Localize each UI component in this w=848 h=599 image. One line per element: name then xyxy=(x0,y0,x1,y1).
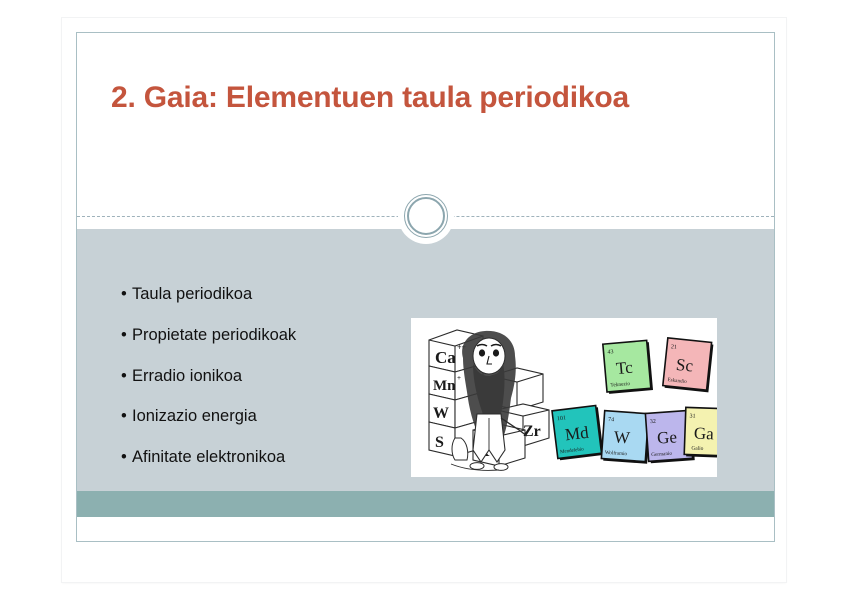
bullet-icon: • xyxy=(121,326,132,346)
svg-text:W: W xyxy=(433,405,449,422)
element-card-w: 74 W Wolframio xyxy=(601,411,650,464)
page-title: 2. Gaia: Elementuen taula periodikoa xyxy=(111,81,751,116)
svg-text:21: 21 xyxy=(671,344,678,351)
element-card-sc: 21 Sc Eskandio xyxy=(663,338,714,393)
svg-text:Sc: Sc xyxy=(675,355,694,376)
document-page: 2. Gaia: Elementuen taula periodikoa • T… xyxy=(0,0,848,599)
element-card-ga: 31 Ga Galio xyxy=(684,407,717,458)
list-item: • Propietate periodikoak xyxy=(121,326,421,346)
svg-text:+: + xyxy=(457,374,461,382)
element-card-md: 101 Md Mendelebio xyxy=(552,405,604,460)
list-item-label: Afinitate elektronikoa xyxy=(132,448,285,468)
svg-text:Tc: Tc xyxy=(615,358,634,378)
slide-image: Ca Mn W S Zr K ++ + xyxy=(411,318,717,477)
svg-text:S: S xyxy=(435,434,444,451)
svg-text:101: 101 xyxy=(557,415,567,422)
bullet-icon: • xyxy=(121,367,132,387)
svg-text:Ca: Ca xyxy=(435,348,456,367)
bullet-icon: • xyxy=(121,285,132,305)
list-item-label: Taula periodikoa xyxy=(132,285,252,305)
svg-text:43: 43 xyxy=(607,349,614,356)
list-item: • Ionizazio energia xyxy=(121,407,421,427)
svg-text:74: 74 xyxy=(608,417,614,423)
slide: 2. Gaia: Elementuen taula periodikoa • T… xyxy=(76,32,775,542)
svg-text:Ga: Ga xyxy=(694,424,715,444)
slide-body-area: • Taula periodikoa • Propietate periodik… xyxy=(77,229,774,517)
list-item-label: Erradio ionikoa xyxy=(132,367,242,387)
list-item: • Erradio ionikoa xyxy=(121,367,421,387)
list-item-label: Ionizazio energia xyxy=(132,407,257,427)
bullet-icon: • xyxy=(121,448,132,468)
list-item: • Afinitate elektronikoa xyxy=(121,448,421,468)
bullet-icon: • xyxy=(121,407,132,427)
svg-text:Mn: Mn xyxy=(433,378,456,394)
svg-text:Md: Md xyxy=(564,423,590,445)
svg-text:Galio: Galio xyxy=(691,446,703,452)
svg-text:32: 32 xyxy=(650,419,656,425)
list-item-label: Propietate periodikoak xyxy=(132,326,296,346)
circle-outer-ring xyxy=(404,194,448,238)
list-item: • Taula periodikoa xyxy=(121,285,421,305)
svg-text:31: 31 xyxy=(689,414,695,420)
svg-text:Zr: Zr xyxy=(523,423,541,440)
svg-text:Ge: Ge xyxy=(656,427,677,447)
footer-bar xyxy=(77,491,774,517)
element-card-tc: 43 Tc Teknezio xyxy=(603,340,653,394)
circle-inner-ring xyxy=(407,197,445,235)
circle-ornament xyxy=(398,188,454,244)
svg-text:W: W xyxy=(613,427,631,447)
